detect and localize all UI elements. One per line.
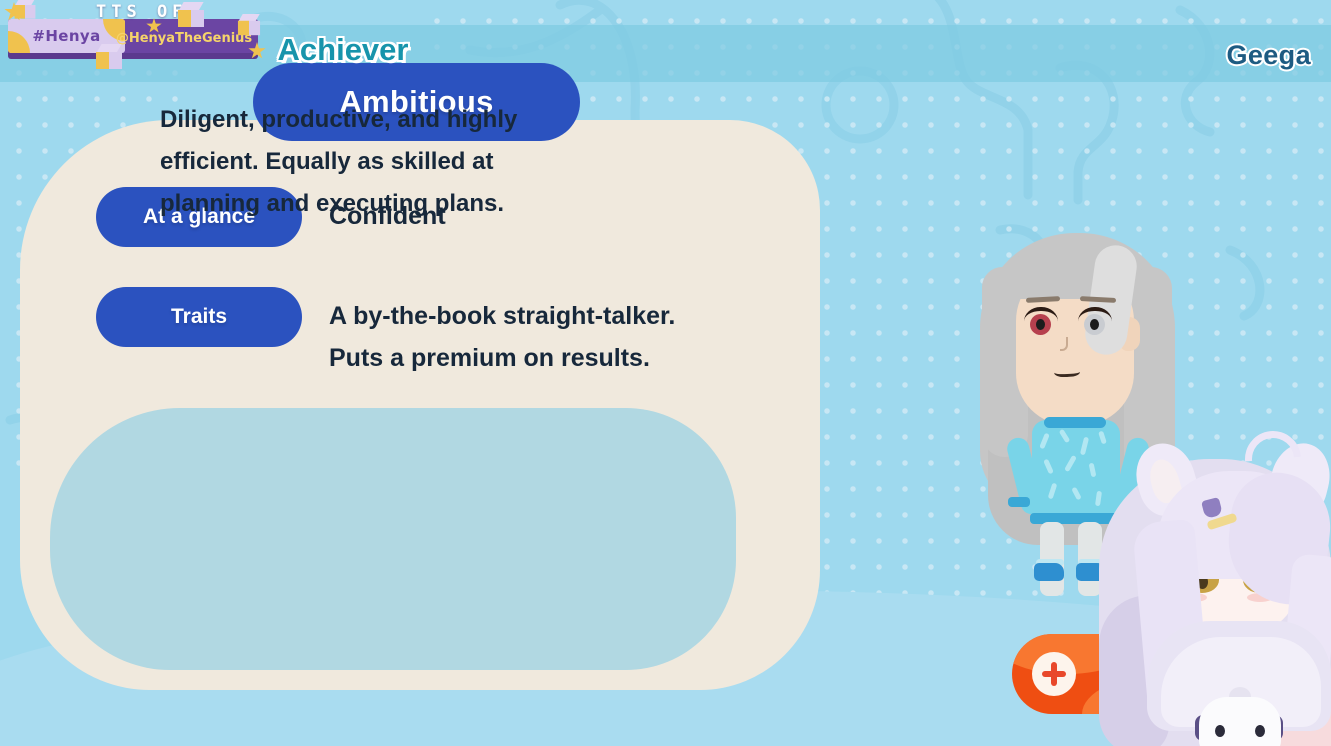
plus-icon bbox=[1051, 662, 1057, 686]
highlight-line: efficient. Equally as skilled at bbox=[160, 141, 600, 183]
character-eye-left bbox=[1024, 307, 1058, 337]
traits-label-pill: Traits bbox=[96, 287, 302, 347]
stream-overlay-screen: #Henya @HenyaTheGenius TTS OFF Geega Amb… bbox=[0, 0, 1331, 746]
traits-value: A by-the-book straight-talker. Puts a pr… bbox=[329, 287, 675, 379]
character-mouth bbox=[1054, 365, 1080, 378]
traits-line: Puts a premium on results. bbox=[329, 337, 675, 379]
highlight-title: Achiever bbox=[0, 32, 686, 68]
vtuber-plushie-eye-right bbox=[1255, 725, 1265, 737]
character-shoe-left bbox=[1034, 563, 1064, 581]
highlight-line: Diligent, productive, and highly bbox=[160, 99, 600, 141]
streamer-name-label: Geega bbox=[1226, 40, 1311, 71]
highlight-line: planning and executing plans. bbox=[160, 183, 600, 225]
character-eye-right bbox=[1078, 307, 1112, 337]
highlight-card bbox=[50, 408, 736, 670]
vtuber-plushie-eye-left bbox=[1215, 725, 1225, 737]
highlight-body: Diligent, productive, and highly efficie… bbox=[160, 99, 600, 225]
traits-row: Traits A by-the-book straight-talker. Pu… bbox=[96, 287, 675, 379]
cube-icon bbox=[178, 2, 204, 28]
vtuber-avatar-overlay bbox=[1095, 425, 1331, 746]
traits-line: A by-the-book straight-talker. bbox=[329, 295, 675, 337]
vtuber-plushie bbox=[1199, 697, 1281, 746]
character-cuff-left bbox=[1008, 497, 1030, 507]
traits-label: Traits bbox=[171, 305, 227, 329]
